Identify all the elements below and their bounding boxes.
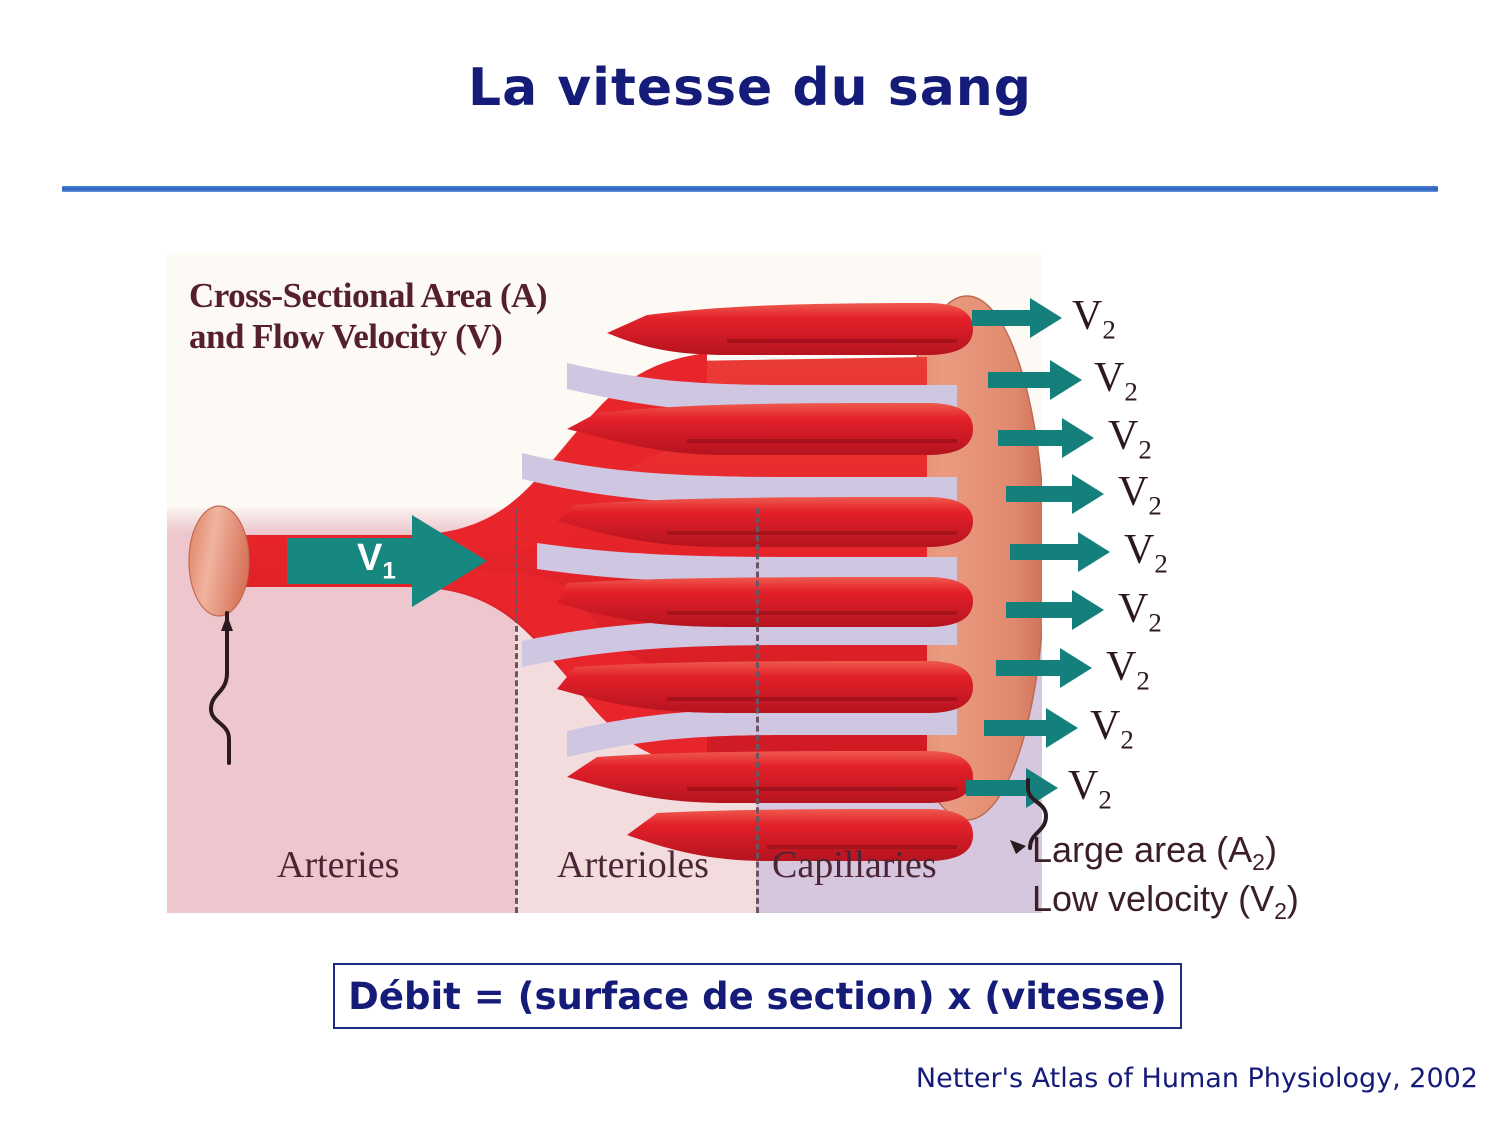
outflow-label-v2-sub: 2 [1154,548,1167,578]
formula-text: Débit = (surface de section) x (vitesse) [348,975,1167,1018]
outflow-label-v2-text: V [1108,413,1138,459]
callout-large-area-line-1-close: ) [1265,829,1277,870]
callout-large-area-line-2: Low velocity (V2) [1032,877,1299,926]
callout-low-velocity-sub: 2 [1274,898,1287,924]
outflow-label-v2-sub: 2 [1136,665,1149,695]
outflow-label-v2-text: V [1094,355,1124,401]
callout-low-velocity-text: Low velocity (V [1032,878,1274,919]
source-credit: Netter's Atlas of Human Physiology, 2002 [916,1063,1478,1094]
outflow-label-v2-sub: 2 [1102,314,1115,344]
outflow-label-v2: V2 [1068,762,1112,815]
inflow-arrow-label-sub: 1 [382,558,396,585]
outflow-label-v2-text: V [1118,586,1148,632]
inflow-arrow-group [167,253,1042,913]
outflow-label-v2-sub: 2 [1124,376,1137,406]
outflow-label-v2-sub: 2 [1148,607,1161,637]
outflow-label-v2-sub: 2 [1138,434,1151,464]
outflow-label-v2-text: V [1124,527,1154,573]
outflow-label-v2: V2 [1094,354,1138,407]
outflow-label-v2-text: V [1118,469,1148,515]
title-divider-rule [62,186,1438,192]
inflow-arrow-label: V1 [357,537,396,586]
outflow-label-v2: V2 [1072,292,1116,345]
outflow-label-v2: V2 [1108,412,1152,465]
callout-large-area-line-1-text: Large area (A [1032,829,1252,870]
outflow-label-v2: V2 [1118,585,1162,638]
page-title: La vitesse du sang [0,58,1500,118]
callout-large-area: Large area (A2) Low velocity (V2) [1032,828,1299,926]
outflow-label-v2: V2 [1124,526,1168,579]
outflow-label-v2: V2 [1106,643,1150,696]
outflow-label-v2-text: V [1072,293,1102,339]
outflow-label-v2: V2 [1090,702,1134,755]
outflow-label-v2-text: V [1068,763,1098,809]
callout-large-area-line-1: Large area (A2) [1032,828,1299,877]
outflow-label-v2-text: V [1106,644,1136,690]
outflow-label-v2-sub: 2 [1098,784,1111,814]
outflow-label-v2: V2 [1118,468,1162,521]
outflow-label-v2-text: V [1090,703,1120,749]
outflow-label-v2-sub: 2 [1120,724,1133,754]
callout-large-area-line-1-sub: 2 [1252,849,1265,875]
callout-low-velocity-close: ) [1287,878,1299,919]
inflow-arrow-label-text: V [357,537,382,579]
outflow-label-v2-sub: 2 [1148,490,1161,520]
blood-velocity-figure: Cross-Sectional Area (A) and Flow Veloci… [167,253,1042,913]
formula-box: Débit = (surface de section) x (vitesse) [333,963,1182,1029]
